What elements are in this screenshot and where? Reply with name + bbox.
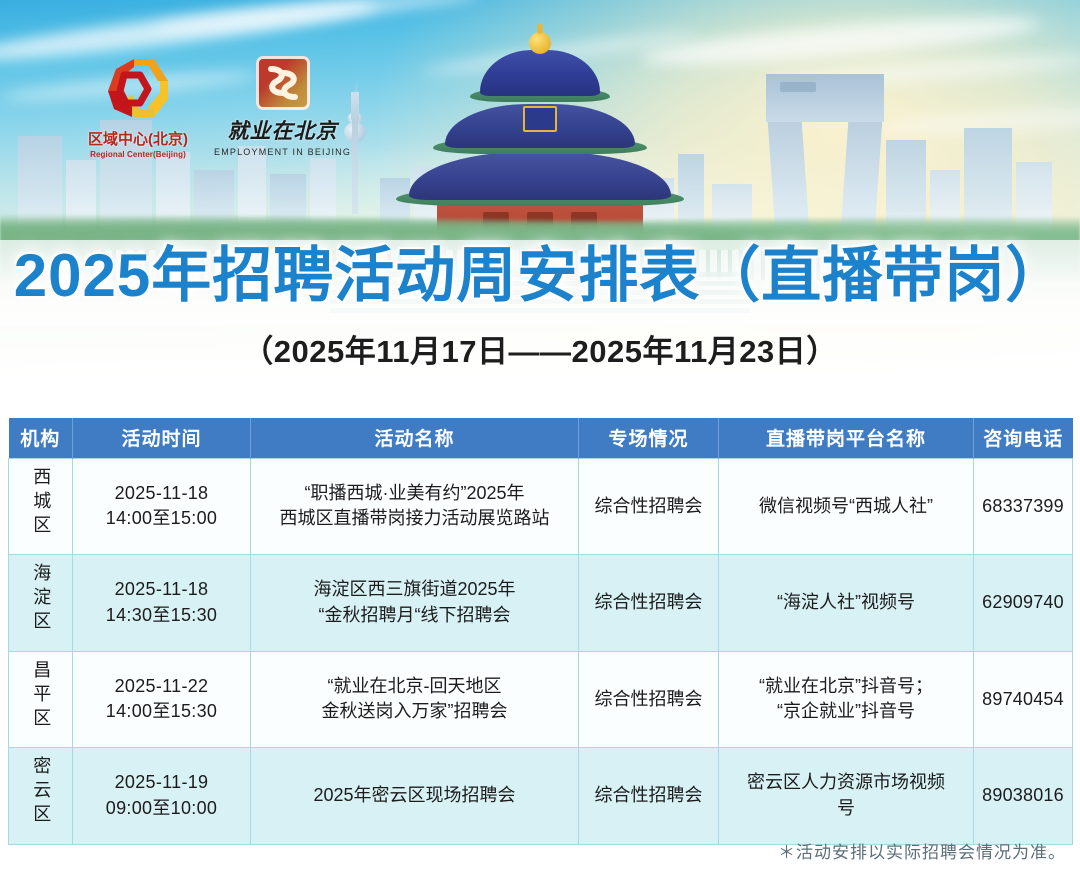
cell-kind: 综合性招聘会 (579, 651, 719, 748)
cell-kind: 综合性招聘会 (579, 748, 719, 845)
page-title: 2025年招聘活动周安排表（直播带岗） (0, 246, 1080, 306)
page-subtitle: （2025年11月17日——2025年11月23日） (0, 336, 1080, 367)
logo-group: 区域中心(北京) Regional Center(Beijing) 就业在北京 … (88, 52, 351, 159)
cell-platform: “海淀人社”视频号 (719, 555, 974, 652)
cell-name: 2025年密云区现场招聘会 (251, 748, 579, 845)
regional-center-name-en: Regional Center(Beijing) (90, 150, 186, 159)
regional-center-logo: 区域中心(北京) Regional Center(Beijing) (88, 52, 188, 159)
cell-tel: 62909740 (974, 555, 1073, 652)
cell-name: 海淀区西三旗街道2025年 “金秋招聘月“线下招聘会 (251, 555, 579, 652)
cell-name: “就业在北京-回天地区 金秋送岗入万家”招聘会 (251, 651, 579, 748)
column-header-kind: 专场情况 (579, 418, 719, 458)
hexagon-ring-logo-icon (101, 52, 175, 126)
cell-tel: 68337399 (974, 458, 1073, 555)
column-header-org: 机构 (9, 418, 73, 458)
table-row: 海淀区 2025-11-18 14:30至15:30 海淀区西三旗街道2025年… (9, 555, 1073, 652)
cell-name: “职播西城·业美有约”2025年 西城区直播带岗接力活动展览路站 (251, 458, 579, 555)
table-header-row: 机构 活动时间 活动名称 专场情况 直播带岗平台名称 咨询电话 (9, 418, 1073, 458)
cell-org: 昌平区 (9, 651, 73, 748)
cell-platform: “就业在北京”抖音号； “京企就业”抖音号 (719, 651, 974, 748)
employment-beijing-name-cn: 就业在北京 (228, 115, 338, 145)
table-row: 昌平区 2025-11-22 14:00至15:30 “就业在北京-回天地区 金… (9, 651, 1073, 748)
cell-org: 密云区 (9, 748, 73, 845)
cell-time: 2025-11-22 14:00至15:30 (73, 651, 251, 748)
cell-kind: 综合性招聘会 (579, 458, 719, 555)
cctv-tv-tower-icon (352, 118, 358, 214)
employment-square-logo-icon (256, 56, 310, 110)
regional-center-name-cn: 区域中心(北京) (88, 128, 188, 149)
cell-platform: 密云区人力资源市场视频 号 (719, 748, 974, 845)
table-row: 西城区 2025-11-18 14:00至15:00 “职播西城·业美有约”20… (9, 458, 1073, 555)
table-row: 密云区 2025-11-19 09:00至10:00 2025年密云区现场招聘会… (9, 748, 1073, 845)
cell-tel: 89038016 (974, 748, 1073, 845)
cell-time: 2025-11-19 09:00至10:00 (73, 748, 251, 845)
schedule-table: 机构 活动时间 活动名称 专场情况 直播带岗平台名称 咨询电话 西城区 2025… (8, 418, 1073, 845)
poster-root: 区域中心(北京) Regional Center(Beijing) 就业在北京 … (0, 0, 1080, 869)
cell-platform: 微信视频号“西城人社” (719, 458, 974, 555)
column-header-tel: 咨询电话 (974, 418, 1073, 458)
employment-beijing-name-en: EMPLOYMENT IN BEIJING (214, 147, 351, 157)
employment-beijing-logo: 就业在北京 EMPLOYMENT IN BEIJING (214, 56, 351, 157)
cell-tel: 89740454 (974, 651, 1073, 748)
schedule-table-container: 机构 活动时间 活动名称 专场情况 直播带岗平台名称 咨询电话 西城区 2025… (8, 418, 1072, 845)
column-header-time: 活动时间 (73, 418, 251, 458)
cell-org: 西城区 (9, 458, 73, 555)
cell-time: 2025-11-18 14:00至15:00 (73, 458, 251, 555)
column-header-name: 活动名称 (251, 418, 579, 458)
column-header-platform: 直播带岗平台名称 (719, 418, 974, 458)
cell-time: 2025-11-18 14:30至15:30 (73, 555, 251, 652)
cell-kind: 综合性招聘会 (579, 555, 719, 652)
cell-org: 海淀区 (9, 555, 73, 652)
footnote: ＊活动安排以实际招聘会情况为准。 (778, 838, 1066, 863)
